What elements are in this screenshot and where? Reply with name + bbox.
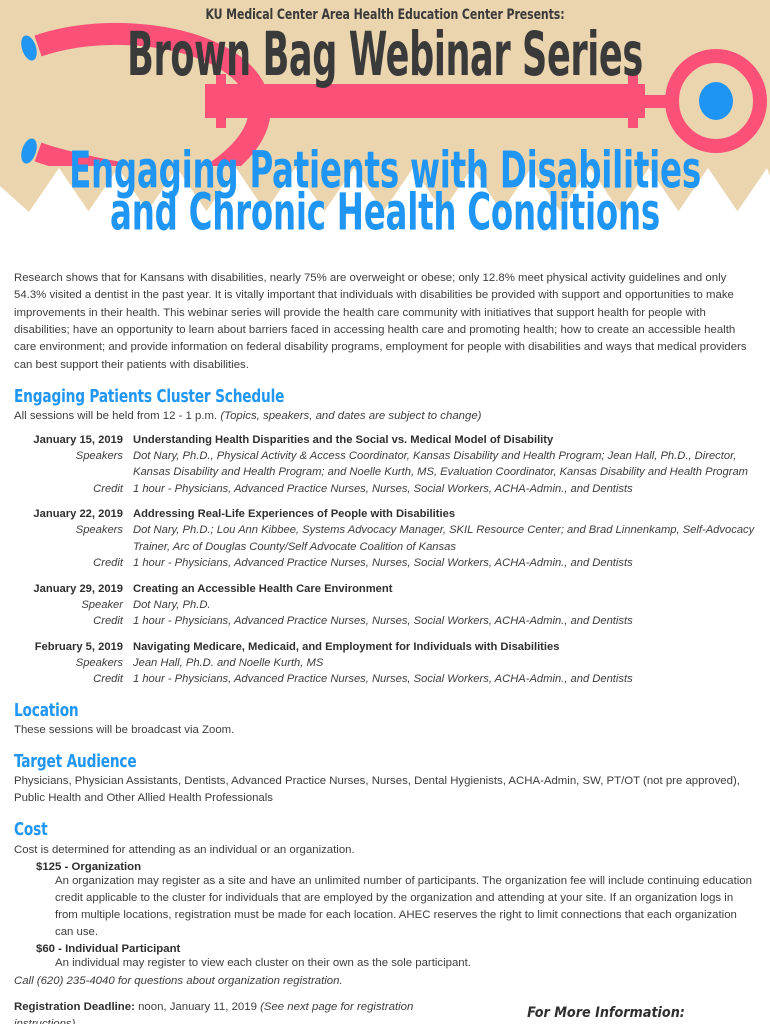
session-speakers-row: Speakers Dot Nary, Ph.D.; Lou Ann Kibbee… — [14, 522, 756, 555]
session-speakers-row: Speaker Dot Nary, Ph.D. — [14, 597, 756, 613]
schedule-list: January 15, 2019 Understanding Health Di… — [14, 432, 756, 688]
schedule-disclaimer: (Topics, speakers, and dates are subject… — [220, 410, 481, 422]
session-speakers-row: Speakers Jean Hall, Ph.D. and Noelle Kur… — [14, 655, 756, 671]
session-row: January 29, 2019 Creating an Accessible … — [14, 581, 756, 630]
series-title: Brown Bag Webinar Series — [85, 24, 686, 85]
session-row: January 15, 2019 Understanding Health Di… — [14, 432, 756, 497]
session-credit: 1 hour - Physicians, Advanced Practice N… — [133, 555, 756, 571]
session-speakers: Dot Nary, Ph.D.; Lou Ann Kibbee, Systems… — [133, 522, 756, 555]
session-date: January 15, 2019 — [14, 432, 133, 448]
cost-individual-title: $60 - Individual Participant — [36, 943, 756, 955]
cost-individual-body: An individual may register to view each … — [55, 955, 756, 972]
cost-intro: Cost is determined for attending as an i… — [14, 842, 756, 859]
cost-org-body: An organization may register as a site a… — [55, 873, 756, 941]
session-topic-row: February 5, 2019 Navigating Medicare, Me… — [14, 639, 756, 655]
session-speaker-label: Speaker — [14, 597, 133, 613]
session-topic-row: January 29, 2019 Creating an Accessible … — [14, 581, 756, 597]
session-topic-row: January 15, 2019 Understanding Health Di… — [14, 432, 756, 448]
flyer-page: KU Medical Center Area Health Education … — [0, 0, 770, 1024]
location-text: These sessions will be broadcast via Zoo… — [14, 722, 756, 739]
session-topic: Understanding Health Disparities and the… — [133, 432, 756, 448]
deadlines-block: Registration Deadline: noon, January 11,… — [14, 999, 456, 1024]
session-speakers: Jean Hall, Ph.D. and Noelle Kurth, MS — [133, 655, 756, 671]
intro-paragraph: Research shows that for Kansans with dis… — [14, 270, 756, 374]
session-speaker-label: Speakers — [14, 448, 133, 464]
session-speakers: Dot Nary, Ph.D., Physical Activity & Acc… — [133, 448, 756, 481]
content-area: Research shows that for Kansans with dis… — [0, 212, 770, 1024]
session-credit: 1 hour - Physicians, Advanced Practice N… — [133, 613, 756, 629]
schedule-time: All sessions will be held from 12 - 1 p.… — [14, 410, 220, 422]
footer-area: Registration Deadline: noon, January 11,… — [14, 999, 756, 1024]
session-date: January 29, 2019 — [14, 581, 133, 597]
schedule-subheading: All sessions will be held from 12 - 1 p.… — [14, 408, 756, 425]
session-credit: 1 hour - Physicians, Advanced Practice N… — [133, 671, 756, 687]
session-credit-label: Credit — [14, 613, 133, 629]
contact-block: For More Information: Contact the AHEC S… — [456, 999, 756, 1024]
schedule-heading: Engaging Patients Cluster Schedule — [14, 388, 660, 407]
registration-deadline-line: Registration Deadline: noon, January 11,… — [14, 999, 446, 1024]
session-date: February 5, 2019 — [14, 639, 133, 655]
registration-deadline-label: Registration Deadline: — [14, 1001, 135, 1013]
session-speakers: Dot Nary, Ph.D. — [133, 597, 756, 613]
audience-text: Physicians, Physician Assistants, Dentis… — [14, 773, 756, 807]
session-credit-label: Credit — [14, 481, 133, 497]
cost-org-title: $125 - Organization — [36, 861, 756, 873]
location-heading: Location — [14, 702, 660, 721]
session-date: January 22, 2019 — [14, 506, 133, 522]
session-topic: Navigating Medicare, Medicaid, and Emplo… — [133, 639, 756, 655]
session-credit: 1 hour - Physicians, Advanced Practice N… — [133, 481, 756, 497]
chestpiece-dot-icon — [699, 82, 733, 120]
session-speakers-row: Speakers Dot Nary, Ph.D., Physical Activ… — [14, 448, 756, 481]
session-row: January 22, 2019 Addressing Real-Life Ex… — [14, 506, 756, 571]
cost-call-note: Call (620) 235-4040 for questions about … — [14, 975, 756, 987]
session-row: February 5, 2019 Navigating Medicare, Me… — [14, 639, 756, 688]
contact-line1: For More Information: — [456, 1003, 756, 1024]
header-text-block: KU Medical Center Area Health Education … — [0, 0, 770, 74]
session-credit-row: Credit 1 hour - Physicians, Advanced Pra… — [14, 671, 756, 687]
session-credit-row: Credit 1 hour - Physicians, Advanced Pra… — [14, 481, 756, 497]
session-topic-row: January 22, 2019 Addressing Real-Life Ex… — [14, 506, 756, 522]
session-speaker-label: Speakers — [14, 655, 133, 671]
cost-heading: Cost — [14, 821, 660, 840]
audience-heading: Target Audience — [14, 753, 660, 772]
session-credit-label: Credit — [14, 555, 133, 571]
session-topic: Creating an Accessible Health Care Envir… — [133, 581, 756, 597]
session-topic: Addressing Real-Life Experiences of Peop… — [133, 506, 756, 522]
cost-organization: $125 - Organization An organization may … — [36, 861, 756, 973]
registration-deadline-value: noon, January 11, 2019 — [138, 1001, 260, 1013]
session-speaker-label: Speakers — [14, 522, 133, 538]
session-credit-label: Credit — [14, 671, 133, 687]
session-credit-row: Credit 1 hour - Physicians, Advanced Pra… — [14, 613, 756, 629]
session-credit-row: Credit 1 hour - Physicians, Advanced Pra… — [14, 555, 756, 571]
